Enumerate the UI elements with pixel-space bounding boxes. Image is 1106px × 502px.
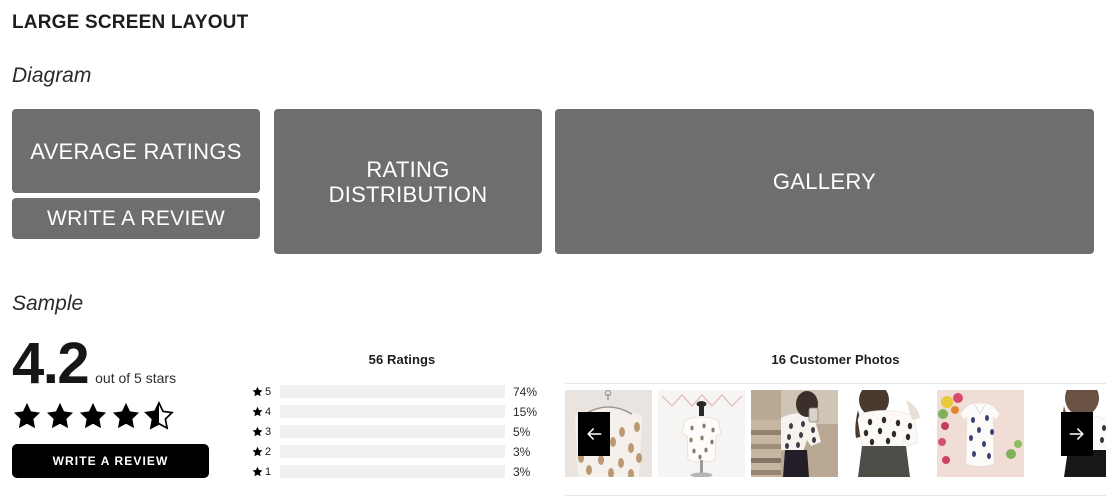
rating-distribution-row[interactable]: 4 15%	[252, 403, 552, 420]
star-icon-small	[252, 466, 263, 477]
gallery-photo-blouse-on-mannequin[interactable]	[658, 390, 745, 477]
star-icon-small	[252, 386, 263, 397]
rating-row-percent-5: 74%	[513, 385, 537, 399]
write-a-review-button[interactable]: WRITE A REVIEW	[12, 444, 209, 478]
rating-row-label-5: 5	[252, 386, 280, 398]
rating-row-percent-3: 5%	[513, 425, 530, 439]
diagram-box-gallery-label: GALLERY	[773, 169, 876, 194]
customer-photos-panel: 16 Customer Photos	[565, 352, 1106, 496]
diagram-box-write-a-review-label: WRITE A REVIEW	[47, 206, 225, 231]
rating-row-percent-1: 3%	[513, 465, 530, 479]
star-icon-filled-2	[45, 401, 75, 430]
rating-distribution-rows: 5 74% 4 15% 3 5%	[252, 383, 552, 480]
average-ratings-panel: 4.2 out of 5 stars WRITE A REVIEW	[12, 336, 242, 478]
average-score-value: 4.2	[12, 336, 88, 392]
rating-row-label-2: 2	[252, 446, 280, 458]
average-score-line: 4.2 out of 5 stars	[12, 336, 242, 392]
gallery-photo-model-with-skirt[interactable]	[844, 390, 931, 477]
star-icon-filled-3	[78, 401, 108, 430]
star-icon-filled-1	[12, 401, 42, 430]
rating-row-label-1: 1	[252, 466, 280, 478]
rating-row-star-1: 1	[265, 466, 271, 478]
rating-distribution-row[interactable]: 5 74%	[252, 383, 552, 400]
rating-row-star-5: 5	[265, 386, 271, 398]
average-score-suffix: out of 5 stars	[95, 370, 176, 386]
gallery-next-button[interactable]	[1061, 412, 1093, 456]
section-label-diagram: Diagram	[12, 64, 91, 88]
star-icon-small	[252, 406, 263, 417]
diagram-wireframe: AVERAGE RATINGS WRITE A REVIEW RATING DI…	[12, 109, 1094, 254]
rating-row-percent-2: 3%	[513, 445, 530, 459]
star-icon-half-5	[144, 401, 174, 430]
rating-row-label-3: 3	[252, 426, 280, 438]
gallery-photo-model-mirror-selfie[interactable]	[751, 390, 838, 477]
arrow-right-icon	[1067, 424, 1087, 444]
rating-distribution-panel: 56 Ratings 5 74% 4 15% 3	[252, 352, 552, 483]
rating-row-track-2	[280, 445, 505, 458]
diagram-box-gallery[interactable]: GALLERY	[555, 109, 1094, 254]
rating-row-track-4	[280, 405, 505, 418]
diagram-box-rating-distribution[interactable]: RATING DISTRIBUTION	[274, 109, 542, 254]
rating-distribution-row[interactable]: 2 3%	[252, 443, 552, 460]
star-icon-filled-4	[111, 401, 141, 430]
rating-row-label-4: 4	[252, 406, 280, 418]
rating-distribution-row[interactable]: 3 5%	[252, 423, 552, 440]
rating-row-star-4: 4	[265, 406, 271, 418]
rating-row-track-1	[280, 465, 505, 478]
star-icon-small	[252, 426, 263, 437]
diagram-box-write-a-review[interactable]: WRITE A REVIEW	[12, 198, 260, 239]
diagram-box-rating-distribution-label: RATING DISTRIBUTION	[329, 157, 488, 207]
section-label-sample: Sample	[12, 292, 83, 316]
page-title: LARGE SCREEN LAYOUT	[12, 12, 248, 34]
gallery-prev-button[interactable]	[578, 412, 610, 456]
rating-distribution-heading: 56 Ratings	[252, 352, 552, 367]
rating-row-track-3	[280, 425, 505, 438]
star-icon-small	[252, 446, 263, 457]
gallery-photo-blouse-flatlay-flowers[interactable]	[937, 390, 1024, 477]
average-star-rating	[12, 400, 242, 430]
rating-row-percent-4: 15%	[513, 405, 537, 419]
arrow-left-icon	[584, 424, 604, 444]
rating-row-star-3: 3	[265, 426, 271, 438]
rating-distribution-row[interactable]: 1 3%	[252, 463, 552, 480]
customer-photos-heading: 16 Customer Photos	[565, 352, 1106, 367]
diagram-box-average-ratings-label: AVERAGE RATINGS	[30, 139, 242, 164]
rating-row-star-2: 2	[265, 446, 271, 458]
diagram-box-average-ratings[interactable]: AVERAGE RATINGS	[12, 109, 260, 193]
rating-row-track-5	[280, 385, 505, 398]
customer-photos-carousel[interactable]	[565, 383, 1106, 496]
